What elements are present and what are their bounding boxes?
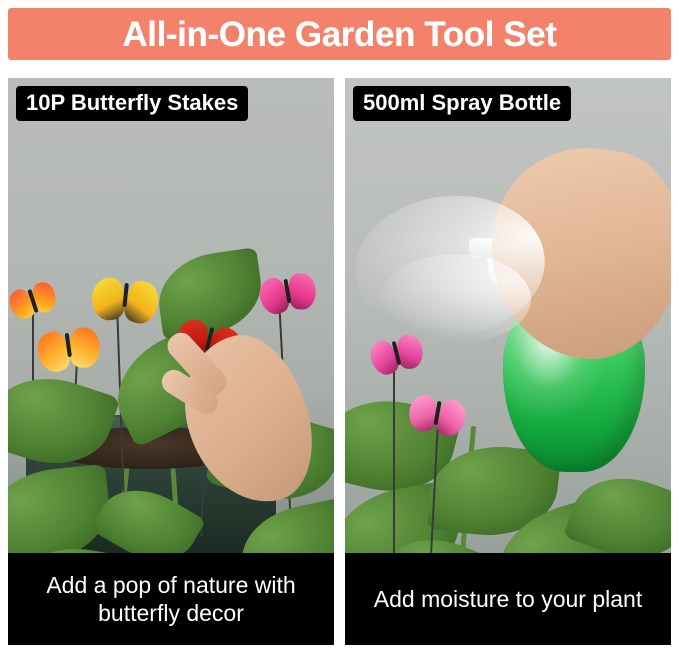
panel-chip-label: 500ml Spray Bottle <box>353 86 571 121</box>
panel-caption: Add a pop of nature with butterfly decor <box>8 553 334 645</box>
panel-chip-label: 10P Butterfly Stakes <box>16 86 248 121</box>
water-mist <box>381 254 531 344</box>
header-banner: All-in-One Garden Tool Set <box>8 8 671 60</box>
panel-caption: Add moisture to your plant <box>345 553 671 645</box>
panel-spray-bottle: 500ml Spray Bottle Add moisture to your … <box>345 78 671 645</box>
panel-butterfly-stakes: 10P Butterfly Stakes Add a pop of nature… <box>8 78 334 645</box>
stake-wire <box>393 364 395 564</box>
butterfly-stake-icon <box>90 275 160 328</box>
panel-row: 10P Butterfly Stakes Add a pop of nature… <box>8 78 671 645</box>
product-image-collage: All-in-One Garden Tool Set <box>0 0 679 653</box>
banner-title: All-in-One Garden Tool Set <box>122 17 556 52</box>
butterfly-stake-icon <box>35 324 103 376</box>
